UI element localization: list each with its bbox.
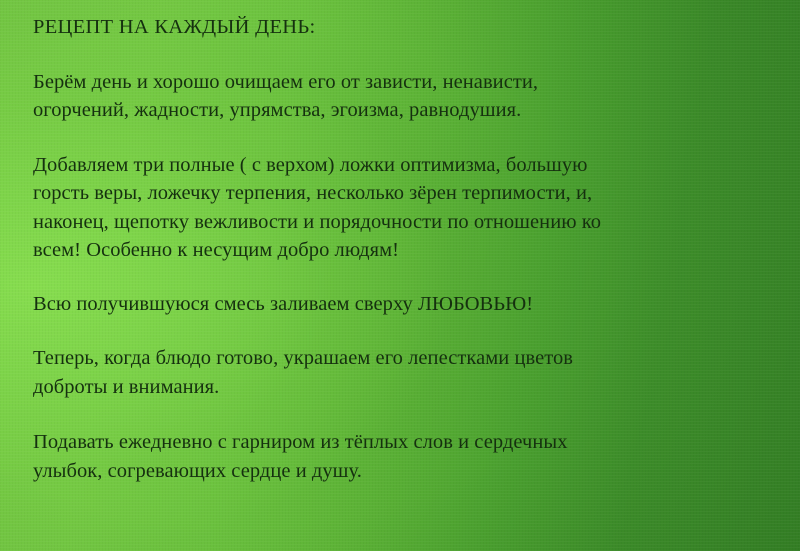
paragraph-serve-line-2: улыбок, согревающих сердце и душу. (33, 457, 773, 486)
paragraph-add-line-4: всем! Особенно к несущим добро людям! (33, 236, 773, 265)
paragraph-add-line-1: Добавляем три полные ( с верхом) ложки о… (33, 151, 773, 180)
slide-title: РЕЦЕПТ НА КАЖДЫЙ ДЕНЬ: (33, 13, 773, 42)
slide-title-line: РЕЦЕПТ НА КАЖДЫЙ ДЕНЬ: (33, 13, 773, 42)
paragraph-decorate: Теперь, когда блюдо готово, украшаем его… (33, 344, 773, 401)
paragraph-cleanse: Берём день и хорошо очищаем его от завис… (33, 68, 773, 125)
paragraph-decorate-line-2: доброты и внимания. (33, 373, 773, 402)
paragraph-add-line-2: горсть веры, ложечку терпения, несколько… (33, 179, 773, 208)
paragraph-cleanse-line-2: огорчений, жадности, упрямства, эгоизма,… (33, 96, 773, 125)
paragraph-serve-line-1: Подавать ежедневно с гарниром из тёплых … (33, 428, 773, 457)
paragraph-add: Добавляем три полные ( с верхом) ложки о… (33, 151, 773, 265)
paragraph-love-line-1: Всю получившуюся смесь заливаем сверху Л… (33, 290, 773, 319)
paragraph-decorate-line-1: Теперь, когда блюдо готово, украшаем его… (33, 344, 773, 373)
paragraph-serve: Подавать ежедневно с гарниром из тёплых … (33, 428, 773, 485)
slide-canvas: РЕЦЕПТ НА КАЖДЫЙ ДЕНЬ: Берём день и хоро… (0, 0, 800, 551)
paragraph-cleanse-line-1: Берём день и хорошо очищаем его от завис… (33, 68, 773, 97)
paragraph-love: Всю получившуюся смесь заливаем сверху Л… (33, 290, 773, 319)
paragraph-add-line-3: наконец, щепотку вежливости и порядочнос… (33, 208, 773, 237)
slide-text-body: РЕЦЕПТ НА КАЖДЫЙ ДЕНЬ: Берём день и хоро… (33, 13, 773, 485)
